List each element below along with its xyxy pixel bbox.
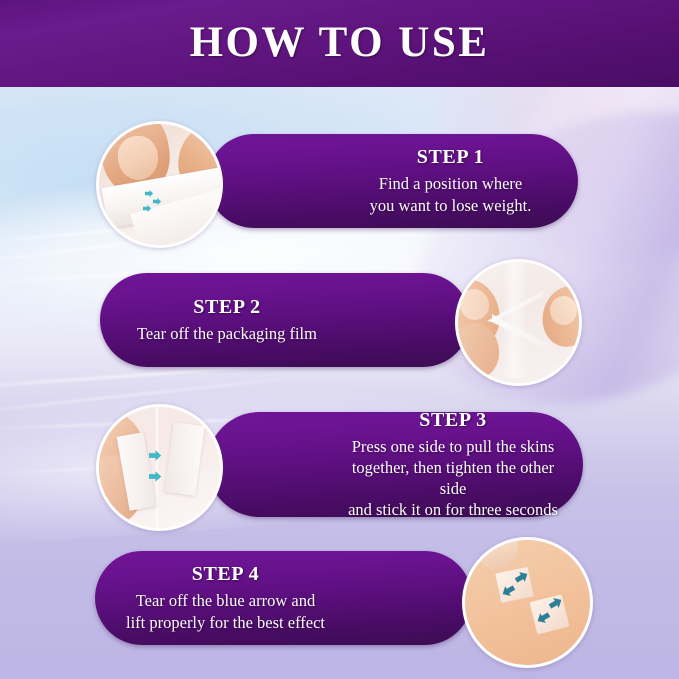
teal-arrow-icon xyxy=(149,470,162,483)
step-title-3: STEP 3 xyxy=(419,409,487,432)
step-description-3: Press one side to pull the skins togethe… xyxy=(337,436,569,520)
page-title: HOW TO USE xyxy=(190,21,490,64)
step-title-2: STEP 2 xyxy=(193,296,261,319)
teal-arrow-icon xyxy=(153,197,162,206)
step-title-4: STEP 4 xyxy=(192,563,260,586)
header-banner: HOW TO USE xyxy=(0,0,679,87)
teal-arrow-icon xyxy=(143,204,152,213)
how-to-use-infographic: HOW TO USE STEP 1 Find a position where … xyxy=(0,0,679,679)
fingers-holding-tape-strip-photo xyxy=(96,121,223,248)
step-banner-4: STEP 4 Tear off the blue arrow and lift … xyxy=(95,551,472,645)
step-banner-1: STEP 1 Find a position where you want to… xyxy=(207,134,578,228)
step-title-1: STEP 1 xyxy=(417,146,485,169)
step-description-1: Find a position where you want to lose w… xyxy=(370,173,532,215)
step-banner-2: STEP 2 Tear off the packaging film xyxy=(100,273,470,367)
hands-tearing-packaging-film-photo xyxy=(455,259,582,386)
step-banner-3: STEP 3 Press one side to pull the skins … xyxy=(207,412,583,517)
pressing-tape-on-skin-photo xyxy=(96,404,223,531)
step-description-4: Tear off the blue arrow and lift properl… xyxy=(126,590,325,632)
tape-applied-on-skin-photo xyxy=(462,537,593,668)
teal-arrow-icon xyxy=(149,449,162,462)
step-description-2: Tear off the packaging film xyxy=(137,323,317,344)
